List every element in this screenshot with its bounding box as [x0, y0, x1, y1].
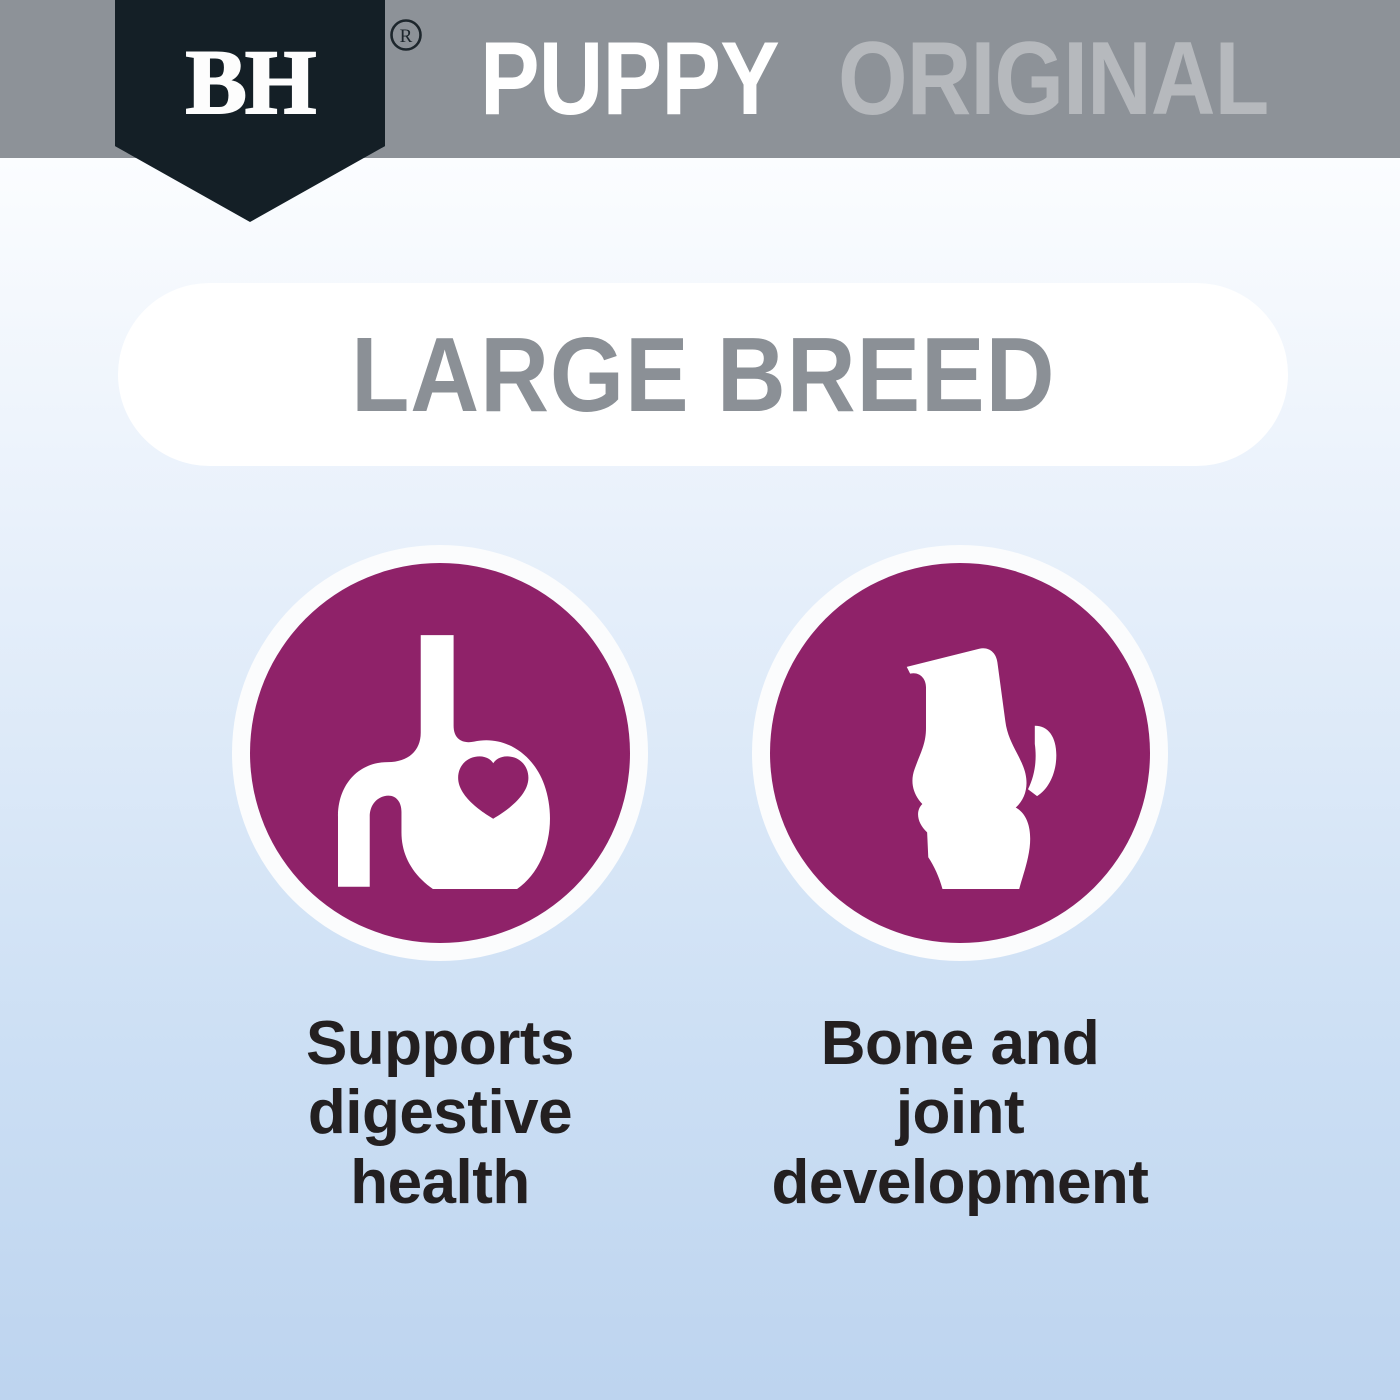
product-feature-panel: BH R PUPPY ORIGINAL LARGE BREED — [0, 0, 1400, 1400]
feature-disc — [770, 563, 1150, 943]
feature-caption: Bone and joint development — [730, 1009, 1190, 1217]
brand-shield-logo: BH — [115, 0, 385, 222]
feature-badge-ring — [232, 545, 648, 961]
header-title: PUPPY ORIGINAL — [480, 0, 1338, 158]
feature-list: Supports digestive health — [0, 545, 1400, 1305]
registered-trademark-icon: R — [389, 18, 423, 52]
feature-item-bone-joint: Bone and joint development — [710, 545, 1210, 1217]
header-title-primary: PUPPY — [480, 27, 779, 131]
brand-mark-text: BH — [115, 36, 385, 128]
feature-caption: Supports digestive health — [210, 1009, 670, 1217]
feature-item-digestive: Supports digestive health — [190, 545, 690, 1217]
svg-text:R: R — [400, 26, 413, 47]
feature-disc — [250, 563, 630, 943]
feature-badge-ring — [752, 545, 1168, 961]
stomach-heart-icon — [304, 617, 576, 889]
bone-joint-icon — [824, 617, 1096, 889]
header-title-secondary: ORIGINAL — [838, 27, 1268, 131]
breed-badge-label: LARGE BREED — [351, 322, 1055, 428]
breed-badge: LARGE BREED — [118, 283, 1288, 466]
